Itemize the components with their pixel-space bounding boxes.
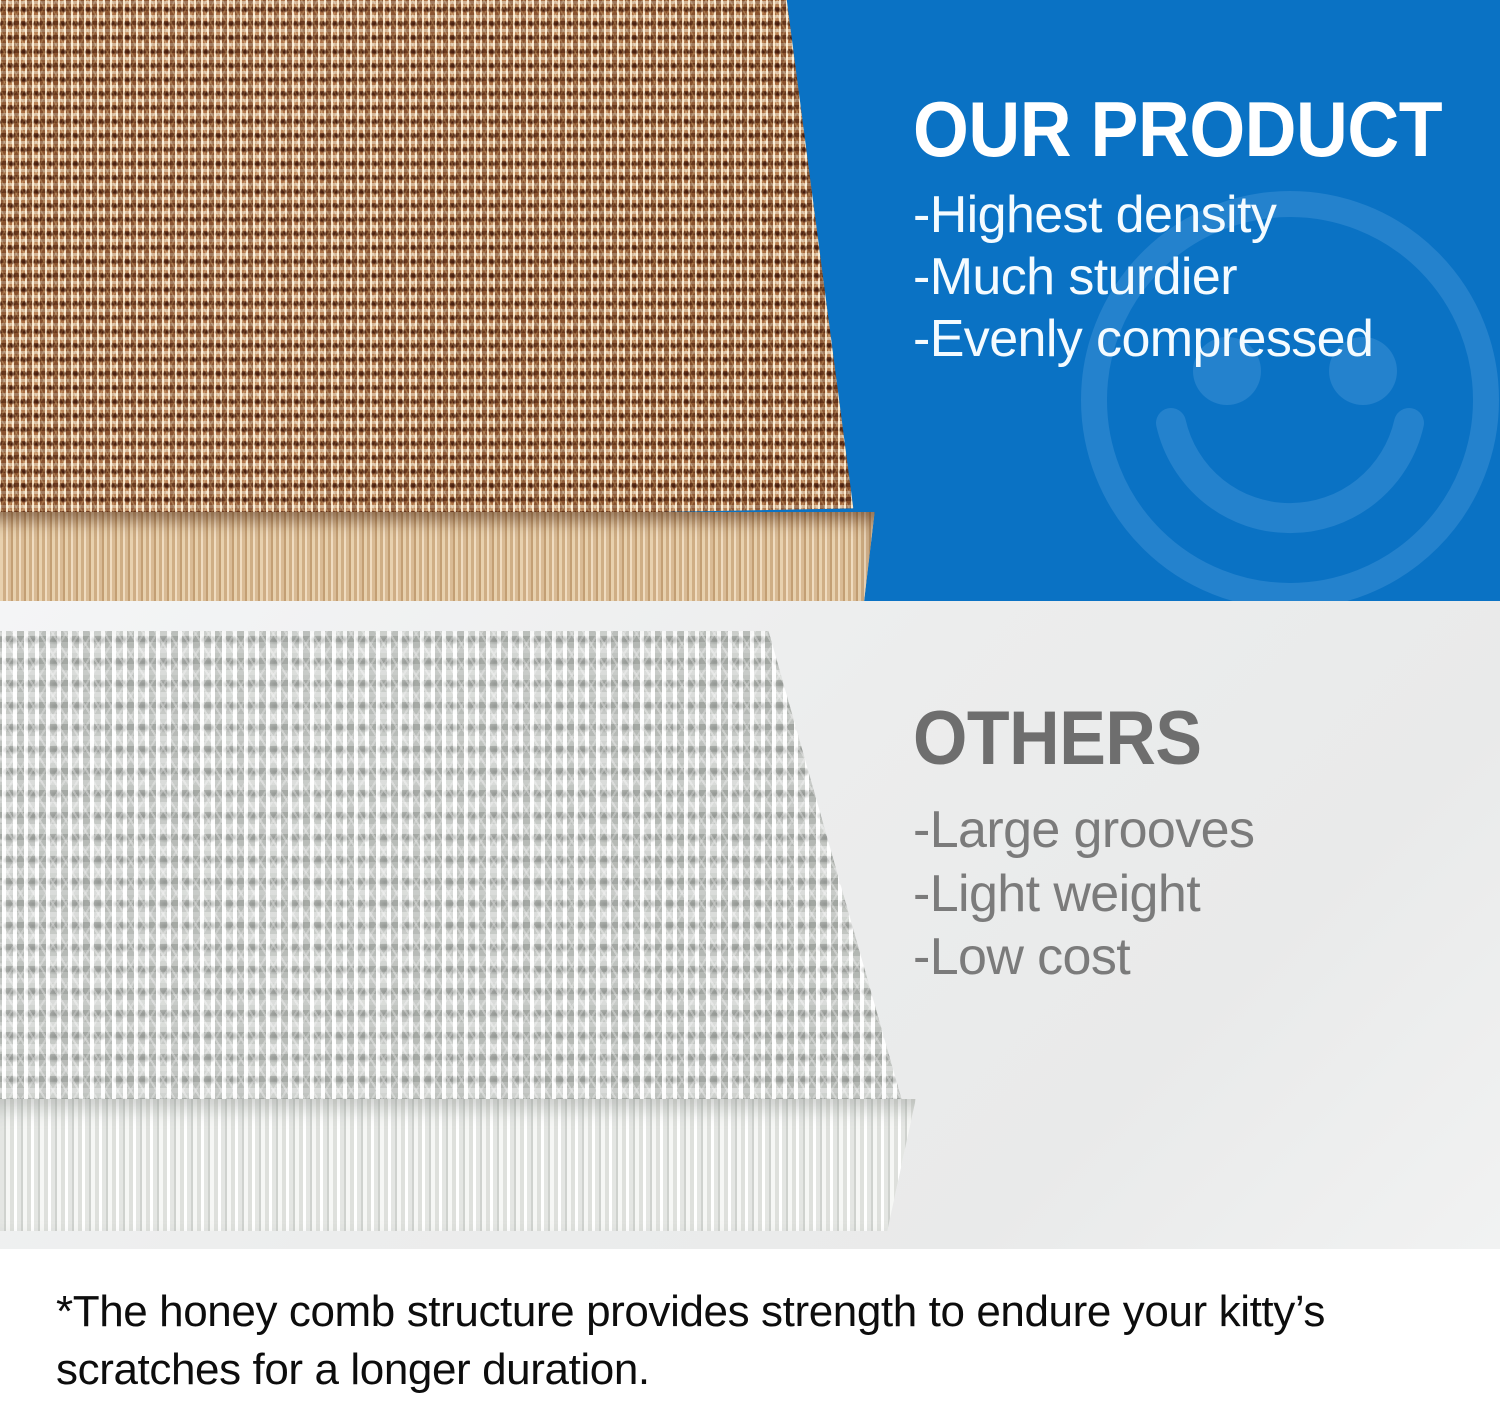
white-pad-cut-edge [0, 1099, 930, 1231]
brown-honeycomb-cardboard-surface [0, 0, 885, 530]
list-item: -Light weight [913, 863, 1483, 926]
others-bullet-list: -Large grooves -Light weight -Low cost [913, 799, 1483, 989]
white-honeycomb-pad-surface [0, 631, 930, 1121]
others-heading: OTHERS [913, 706, 1437, 771]
our-product-heading: OUR PRODUCT [913, 96, 1437, 163]
our-product-copy: OUR PRODUCT -Highest density -Much sturd… [913, 96, 1483, 371]
list-item: -Large grooves [913, 799, 1483, 862]
brown-cardboard-cut-edge [0, 512, 880, 601]
footer-note-bar: *The honey comb structure provides stren… [0, 1249, 1500, 1426]
others-copy: OTHERS -Large grooves -Light weight -Low… [913, 706, 1483, 990]
cardboard-weave-overlay [0, 0, 885, 530]
our-product-bullet-list: -Highest density -Much sturdier -Evenly … [913, 185, 1483, 371]
list-item: -Highest density [913, 185, 1483, 247]
list-item: -Low cost [913, 926, 1483, 989]
list-item: -Much sturdier [913, 247, 1483, 309]
footer-note-text: *The honey comb structure provides stren… [56, 1283, 1456, 1399]
product-comparison-infographic: OUR PRODUCT -Highest density -Much sturd… [0, 0, 1500, 1426]
our-product-panel: OUR PRODUCT -Highest density -Much sturd… [0, 0, 1500, 601]
list-item: -Evenly compressed [913, 309, 1483, 371]
pad-weave-overlay [0, 631, 930, 1121]
